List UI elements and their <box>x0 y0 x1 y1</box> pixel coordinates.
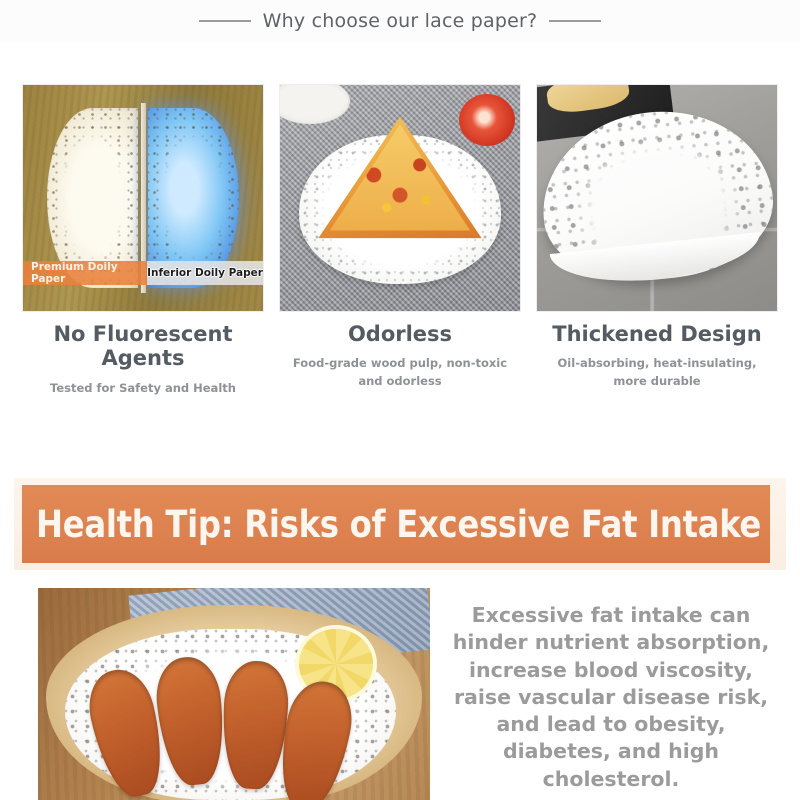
feature-card-odorless[interactable]: Odorless Food-grade wood pulp, non-toxic… <box>279 84 521 397</box>
premium-doily-label: Premium Doily Paper <box>23 261 147 285</box>
page-title: Why choose our lace paper? <box>263 10 538 32</box>
health-tip-body-text: Excessive fat intake can hinder nutrient… <box>446 588 776 793</box>
health-tip-banner: Health Tip: Risks of Excessive Fat Intak… <box>22 485 770 563</box>
header-rule-left-icon <box>199 20 251 22</box>
fried-chicken-wings-on-doily-photo <box>38 588 430 800</box>
folded-thick-doily-photo <box>536 84 778 312</box>
health-tip-banner-title: Health Tip: Risks of Excessive Fat Intak… <box>36 503 761 546</box>
bamboo-basket <box>46 605 422 800</box>
feature-card-subtitle: Food-grade wood pulp, non-toxic and odor… <box>284 355 516 390</box>
feature-card-no-fluorescent-agents[interactable]: Premium Doily Paper Inferior Doily Paper… <box>22 84 264 397</box>
feature-card-title: Odorless <box>348 322 452 346</box>
tomato-half-icon <box>459 94 515 146</box>
feature-card-title: Thickened Design <box>552 322 761 346</box>
feature-card-title: No Fluorescent Agents <box>22 322 264 371</box>
feature-card-thickened-design[interactable]: Thickened Design Oil-absorbing, heat-ins… <box>536 84 778 397</box>
inferior-doily-label: Inferior Doily Paper <box>147 261 263 285</box>
header-rule-right-icon <box>549 20 601 22</box>
section-header: Why choose our lace paper? <box>0 0 800 42</box>
pizza-slice-on-doily-photo <box>279 84 521 312</box>
feature-card-subtitle: Tested for Safety and Health <box>50 380 236 397</box>
comparison-label-row: Premium Doily Paper Inferior Doily Paper <box>23 261 263 285</box>
uv-comparison-doily-photo: Premium Doily Paper Inferior Doily Paper <box>22 84 264 312</box>
feature-card-subtitle: Oil-absorbing, heat-insulating, more dur… <box>541 355 773 390</box>
feature-card-list: Premium Doily Paper Inferior Doily Paper… <box>0 42 800 397</box>
health-tip-content-row: Excessive fat intake can hinder nutrient… <box>0 588 800 800</box>
health-tip-banner-section: Health Tip: Risks of Excessive Fat Intak… <box>0 478 800 570</box>
